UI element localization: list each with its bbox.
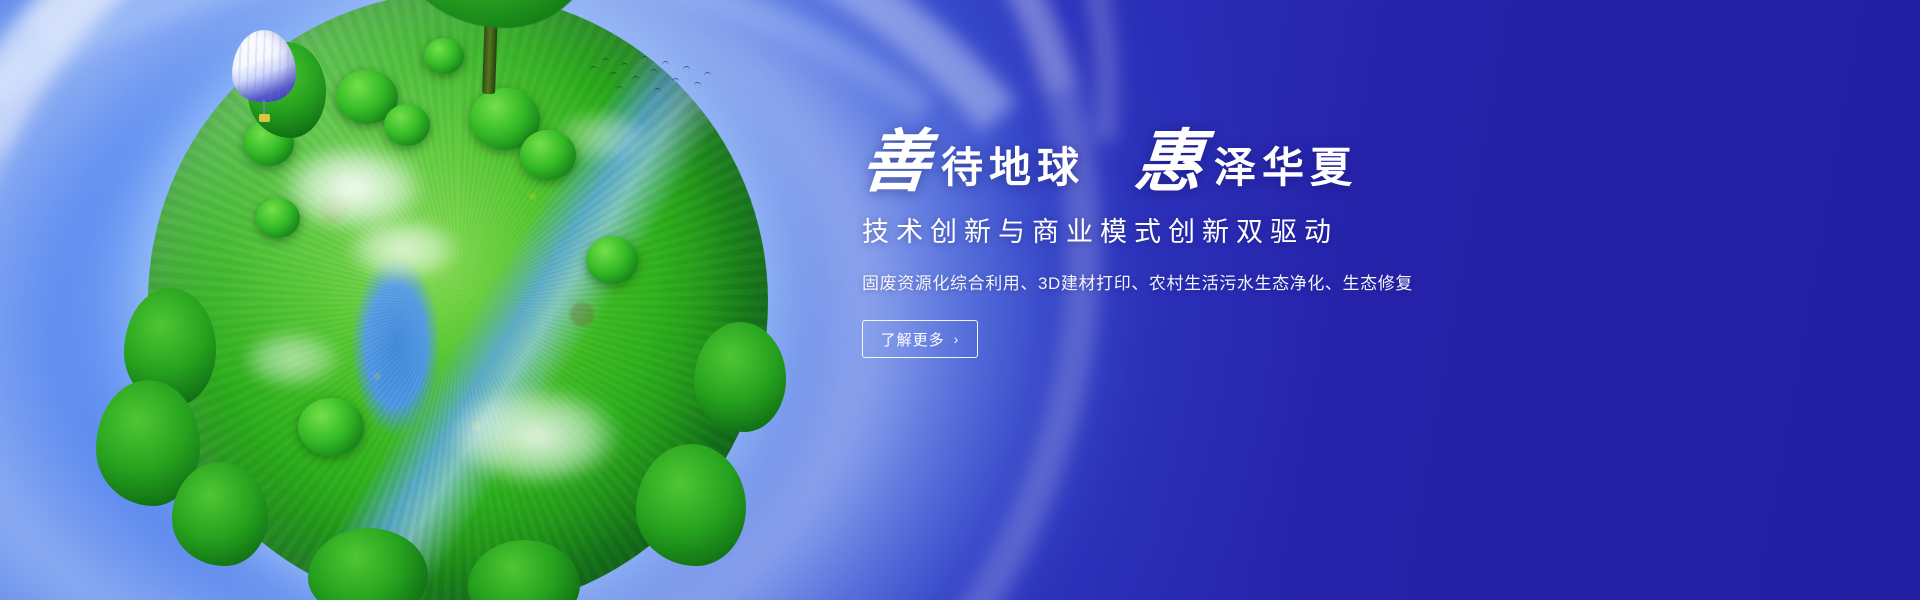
planet-cloud-2 xyxy=(344,216,462,282)
headline-part2-small: 泽华夏 xyxy=(1204,148,1358,196)
banner-description: 固废资源化综合利用、3D建材打印、农村生活污水生态净化、生态修复 xyxy=(862,269,1602,294)
hot-air-balloon-icon xyxy=(232,30,296,126)
globe-tree-2 xyxy=(384,104,430,146)
bird-flock-icon xyxy=(588,52,718,98)
banner-subtitle: 技术创新与商业模式创新双驱动 xyxy=(862,210,1602,249)
chevron-right-icon: › xyxy=(954,332,960,346)
balloon-basket xyxy=(259,114,270,122)
banner-content: 善 待地球 惠 泽华夏 技术创新与商业模式创新双驱动 固废资源化综合利用、3D建… xyxy=(862,128,1602,358)
rim-tree-right-2 xyxy=(694,322,786,432)
bird-13 xyxy=(616,86,623,90)
learn-more-button[interactable]: 了解更多 › xyxy=(862,320,978,358)
globe-tree-4 xyxy=(520,130,576,180)
bird-9 xyxy=(672,78,679,82)
globe-tree-6 xyxy=(586,236,638,284)
globe-tree-7 xyxy=(298,398,364,456)
bird-7 xyxy=(650,69,657,73)
bird-4 xyxy=(621,63,628,67)
bird-10 xyxy=(683,66,690,70)
headline-part1-small: 待地球 xyxy=(931,148,1085,196)
headline-part2-big: 惠 xyxy=(1132,128,1207,196)
bird-12 xyxy=(704,72,711,76)
rim-tree-left-3 xyxy=(172,462,268,566)
page-title: 善 待地球 惠 泽华夏 xyxy=(862,128,1602,196)
bird-6 xyxy=(641,56,648,60)
learn-more-label: 了解更多 xyxy=(881,329,945,350)
bird-1 xyxy=(590,66,597,70)
globe-tree-9 xyxy=(424,38,464,74)
headline-part1-big: 善 xyxy=(859,128,934,196)
bird-5 xyxy=(632,76,639,80)
globe-tree-5 xyxy=(256,198,300,238)
planet-cloud-4 xyxy=(240,328,344,390)
hero-banner: 善 待地球 惠 泽华夏 技术创新与商业模式创新双驱动 固废资源化综合利用、3D建… xyxy=(0,0,1920,600)
bird-11 xyxy=(694,82,701,86)
bird-14 xyxy=(654,88,661,92)
planet-cloud-3 xyxy=(448,384,624,488)
rim-tree-right-1 xyxy=(636,444,746,566)
bird-8 xyxy=(662,61,669,65)
bird-3 xyxy=(610,72,617,76)
balloon-envelope xyxy=(232,30,296,102)
bird-2 xyxy=(602,58,609,62)
